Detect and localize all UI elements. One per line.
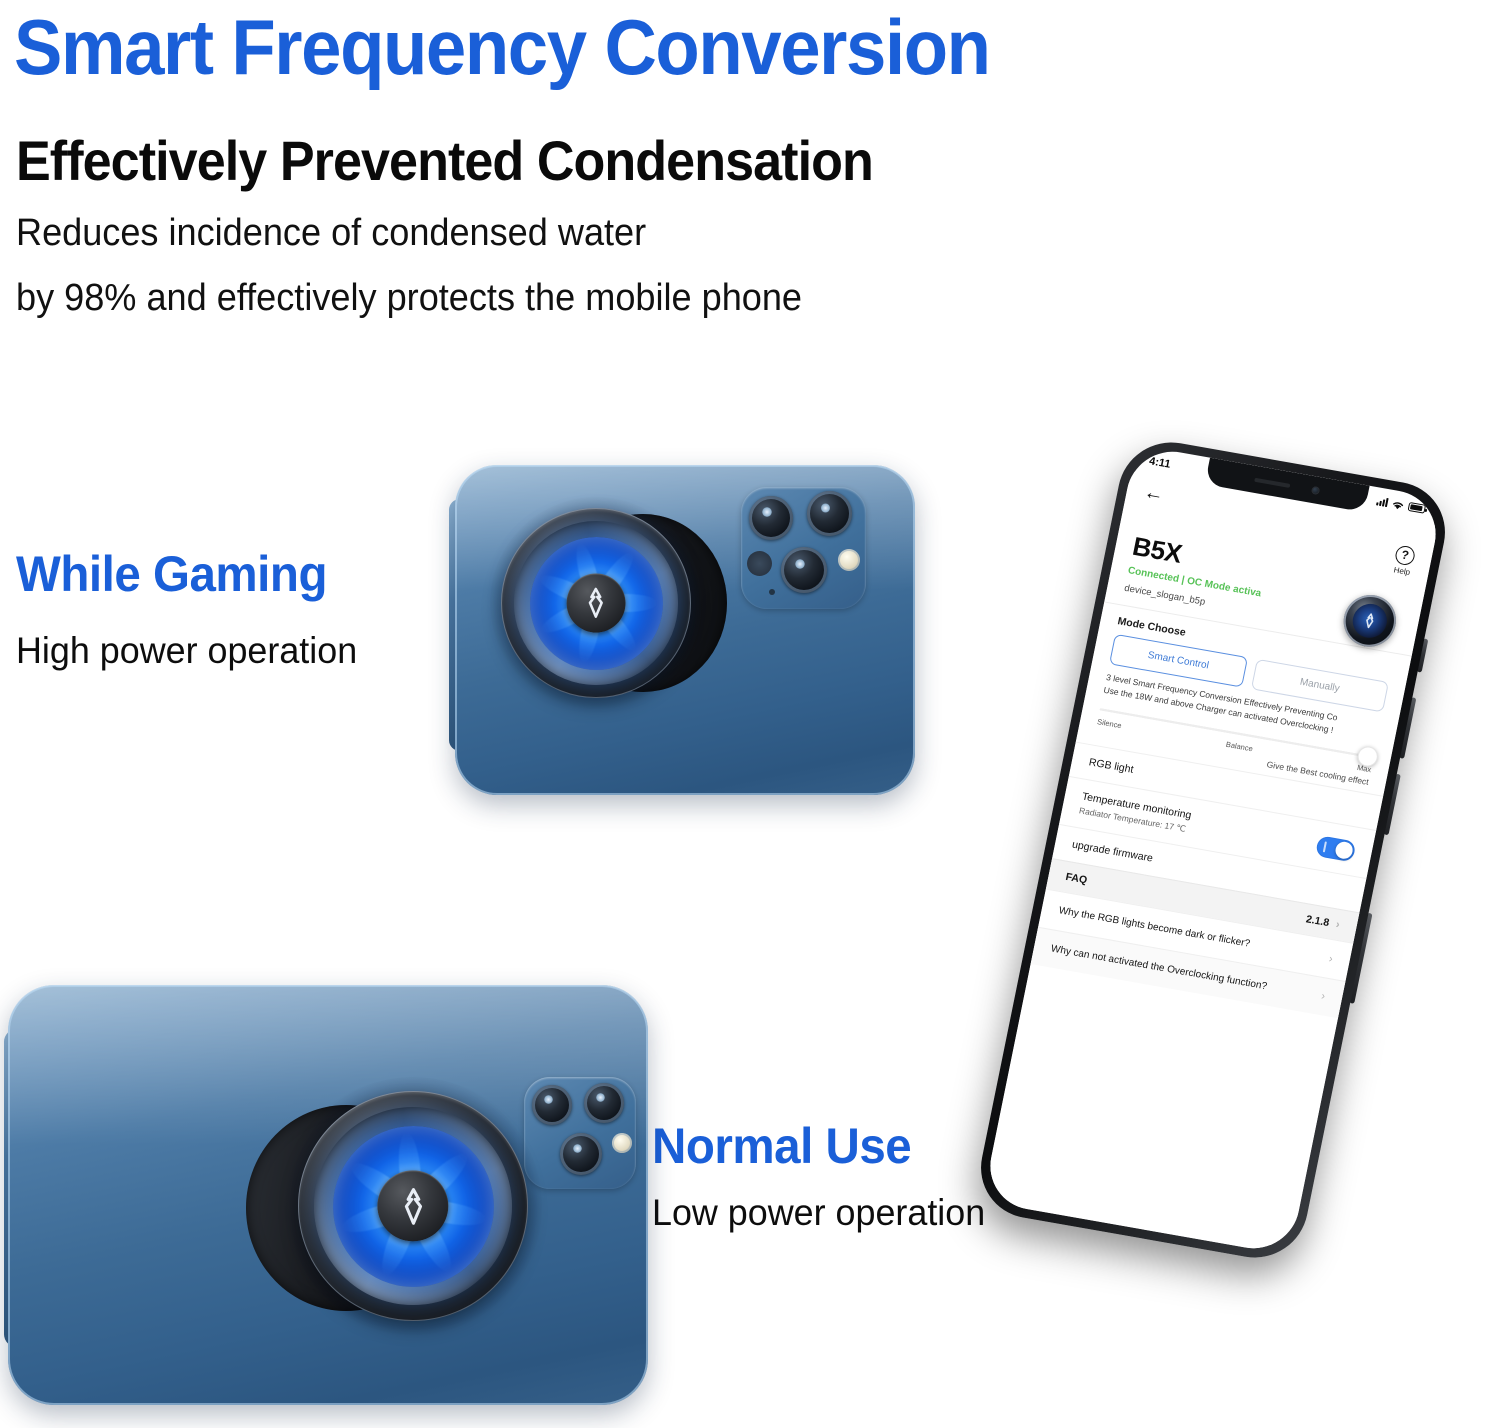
- camera-lens-wide: [532, 1085, 572, 1125]
- caption-gaming-sub: High power operation: [16, 630, 357, 672]
- cooler-fan-icon: [1350, 601, 1391, 641]
- help-icon: ?: [1394, 545, 1417, 567]
- page-title: Smart Frequency Conversion: [14, 2, 990, 93]
- camera-flash: [612, 1133, 632, 1153]
- app-content: ← ? Help B5X Connected | OC Mode activa …: [982, 471, 1438, 1255]
- chevron-right-icon: ›: [1320, 990, 1326, 1002]
- phone-screen: 4:11 ← ?: [982, 445, 1443, 1256]
- temperature-monitoring-text: Temperature monitoring Radiator Temperat…: [1078, 791, 1192, 836]
- camera-lens-ultrawide: [807, 491, 852, 536]
- product-marketing-image: Smart Frequency Conversion Effectively P…: [0, 0, 1500, 1428]
- status-bar-indicators: [1376, 496, 1426, 514]
- earpiece-speaker-icon: [1254, 477, 1290, 487]
- wifi-icon: [1391, 498, 1406, 510]
- body-text-line-1: Reduces incidence of condensed water: [16, 212, 646, 255]
- camera-lens-tele: [781, 547, 827, 593]
- slider-tick-silence: Silence: [1096, 717, 1122, 730]
- slider-tick-balance: Balance: [1225, 740, 1254, 754]
- caption-normal-sub: Low power operation: [652, 1192, 985, 1234]
- phone-frame: 4:11 ← ?: [972, 434, 1455, 1265]
- cooler-hub-logo: [377, 1170, 448, 1241]
- battery-icon: [1408, 502, 1427, 514]
- phone-with-cooler-normal: [8, 985, 648, 1405]
- camera-flash: [838, 549, 860, 571]
- back-arrow-icon[interactable]: ←: [1142, 482, 1166, 505]
- camera-microphone: [769, 589, 775, 595]
- status-bar-time: 4:11: [1148, 455, 1196, 475]
- chevron-right-icon: ›: [1328, 953, 1334, 965]
- help-button[interactable]: ? Help: [1392, 545, 1417, 578]
- caption-normal-title: Normal Use: [652, 1117, 911, 1175]
- camera-lens-wide: [749, 496, 793, 540]
- firmware-version: 2.1.8: [1305, 913, 1330, 929]
- lidar-sensor: [747, 551, 772, 576]
- camera-module: [741, 487, 866, 609]
- temperature-monitoring-toggle[interactable]: [1315, 835, 1357, 862]
- cooler-fan-device: [501, 508, 691, 698]
- camera-lens-tele: [560, 1133, 602, 1175]
- caption-gaming-title: While Gaming: [16, 545, 327, 603]
- signal-bars-icon: [1376, 496, 1389, 507]
- camera-module: [524, 1077, 636, 1189]
- cooler-hub-logo: [567, 574, 626, 633]
- body-text-line-2: by 98% and effectively protects the mobi…: [16, 277, 802, 320]
- flydigi-logo-icon: [1359, 611, 1380, 632]
- faq-header-label: FAQ: [1065, 871, 1089, 887]
- front-camera-icon: [1311, 485, 1320, 494]
- page-subtitle: Effectively Prevented Condensation: [16, 128, 873, 193]
- list-item-label: RGB light: [1088, 756, 1135, 776]
- camera-lens-ultrawide: [584, 1083, 624, 1123]
- phone-with-cooler-gaming: [455, 465, 915, 795]
- list-item-label: upgrade firmware: [1071, 839, 1154, 865]
- cooler-fan-device: [298, 1091, 528, 1321]
- flydigi-logo-icon: [391, 1184, 435, 1228]
- chevron-right-icon: ›: [1335, 919, 1341, 931]
- companion-app-phone: 4:11 ← ?: [972, 434, 1455, 1265]
- flydigi-logo-icon: [578, 585, 615, 622]
